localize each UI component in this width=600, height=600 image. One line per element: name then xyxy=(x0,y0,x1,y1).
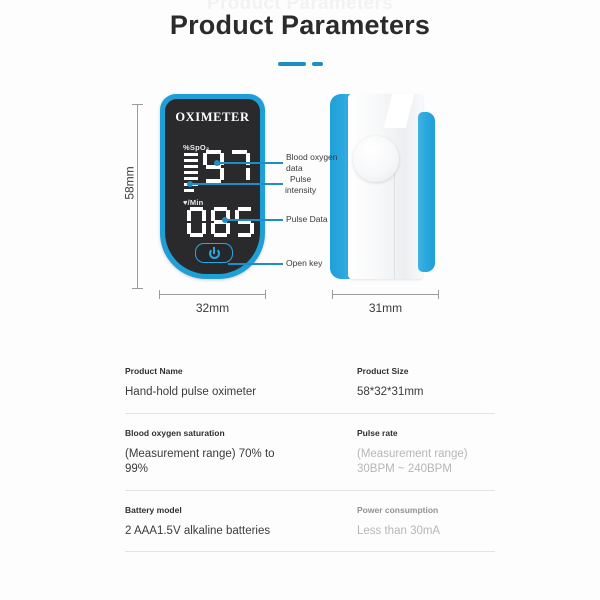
bar-segment xyxy=(184,171,198,174)
spec-label: Power consumption xyxy=(357,505,485,516)
spec-value: 2 AAA1.5V alkaline batteries xyxy=(125,524,300,540)
power-button[interactable] xyxy=(195,243,233,263)
device-hinge-knob xyxy=(353,136,399,182)
spec-value: 58*32*31mm xyxy=(357,385,485,401)
spec-label: Product Size xyxy=(357,366,485,377)
back-width-dimension-label: 31mm xyxy=(332,301,439,315)
spec-label: Blood oxygen saturation xyxy=(125,428,300,439)
device-front-view: OXIMETER %SpO₂ ♥/Min xyxy=(160,94,265,279)
bar-segment xyxy=(184,165,198,168)
spec-label: Pulse rate xyxy=(357,428,485,439)
bar-segment xyxy=(184,189,194,192)
callout-label-pulse-data: Pulse Data xyxy=(286,214,328,225)
spec-cell-left: Battery model 2 AAA1.5V alkaline batteri… xyxy=(125,505,310,540)
specification-table: Product Name Hand-hold pulse oximeter Pr… xyxy=(125,352,495,552)
callout-text-line2: intensity xyxy=(285,185,316,196)
callout-text-line1: Blood oxygen xyxy=(286,152,338,163)
table-row: Battery model 2 AAA1.5V alkaline batteri… xyxy=(125,491,495,553)
callout-line-open-key xyxy=(228,263,267,265)
height-dimension-label: 58mm xyxy=(123,166,137,199)
back-width-dimension-line xyxy=(332,294,439,295)
product-diagram: 58mm OXIMETER %SpO₂ xyxy=(0,86,600,336)
spec-cell-left: Product Name Hand-hold pulse oximeter xyxy=(125,366,310,401)
bar-segment xyxy=(184,177,198,180)
seven-seg-digit xyxy=(229,150,250,183)
spec-label: Battery model xyxy=(125,505,300,516)
bar-segment xyxy=(184,153,198,156)
spo2-reading xyxy=(203,150,250,183)
seven-seg-digit xyxy=(203,150,224,183)
callout-label-blood-oxygen: Blood oxygen data xyxy=(286,152,338,175)
front-width-dimension-line xyxy=(159,294,266,295)
spec-cell-right: Product Size 58*32*31mm xyxy=(310,366,495,401)
divider-dash-long xyxy=(278,62,306,66)
spec-value: (Measurement range) 30BPM ~ 240BPM xyxy=(357,447,485,478)
spec-value: (Measurement range) 70% to 99% xyxy=(125,447,300,478)
pulse-reading xyxy=(187,207,254,237)
pulse-unit-label: ♥/Min xyxy=(183,198,203,207)
table-row: Product Name Hand-hold pulse oximeter Pr… xyxy=(125,352,495,414)
spec-label: Product Name xyxy=(125,366,300,377)
callout-label-pulse-intensity: Pulse intensity xyxy=(290,174,316,197)
table-row: Blood oxygen saturation (Measurement ran… xyxy=(125,414,495,491)
power-icon xyxy=(209,248,220,259)
callout-line-blood-oxygen xyxy=(217,162,267,164)
seven-seg-digit xyxy=(187,207,206,237)
spec-value: Less than 30mA xyxy=(357,524,485,540)
callout-line-blood-oxygen-2 xyxy=(267,162,283,164)
spec-cell-left: Blood oxygen saturation (Measurement ran… xyxy=(125,428,310,478)
device-back-body xyxy=(348,94,423,279)
spec-cell-right: Power consumption Less than 30mA xyxy=(310,505,495,540)
product-parameters-page: Product Parameters Product Parameters 58… xyxy=(0,0,600,600)
callout-line-pulse-intensity-2 xyxy=(267,183,283,185)
seven-seg-digit xyxy=(235,207,254,237)
device-right-clip xyxy=(418,112,435,272)
front-width-dimension-label: 32mm xyxy=(159,301,266,315)
callout-line-pulse-intensity xyxy=(190,183,267,185)
page-title: Product Parameters xyxy=(0,10,600,41)
device-hinge-notch xyxy=(384,94,414,128)
divider-dash-short xyxy=(312,62,323,66)
title-divider xyxy=(0,62,600,66)
height-dimension-line xyxy=(137,104,138,289)
bar-segment xyxy=(184,159,198,162)
spec-value: Hand-hold pulse oximeter xyxy=(125,385,300,401)
callout-line-pulse-data-2 xyxy=(267,219,283,221)
spec-cell-right: Pulse rate (Measurement range) 30BPM ~ 2… xyxy=(310,428,495,478)
device-brand-label: OXIMETER xyxy=(165,110,260,125)
callout-line-pulse-data xyxy=(225,219,267,221)
device-screen: OXIMETER %SpO₂ ♥/Min xyxy=(165,99,260,274)
device-back-view xyxy=(330,94,440,279)
callout-label-open-key: Open key xyxy=(286,258,322,269)
callout-line-open-key-2 xyxy=(267,263,283,265)
callout-text-line1: Pulse xyxy=(290,174,316,185)
